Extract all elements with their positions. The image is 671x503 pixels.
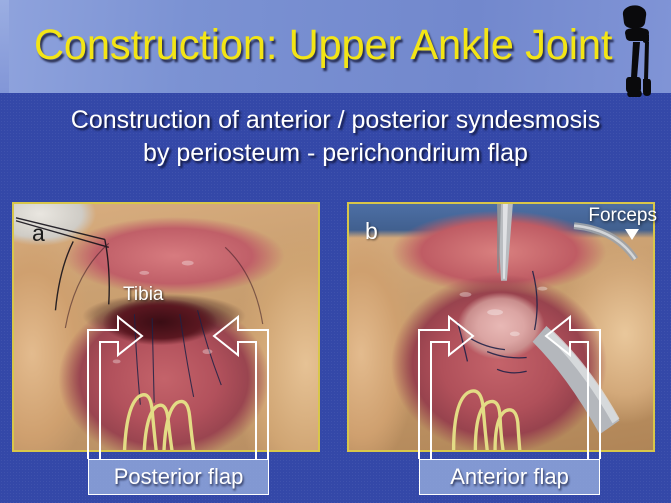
panel-letter-b: b <box>365 220 378 243</box>
surgical-photo-panel-a: a <box>12 202 320 452</box>
subtitle-line-2: by periosteum - perichondrium flap <box>0 137 671 170</box>
banner-left-edge <box>0 0 9 93</box>
caption-anterior-flap: Anterior flap <box>419 459 600 495</box>
caption-anterior-flap-label: Anterior flap <box>450 466 569 488</box>
panel-letter-a: a <box>32 222 45 245</box>
caption-posterior-flap-label: Posterior flap <box>114 466 244 488</box>
presentation-slide: Construction: Upper Ankle Joint <box>0 0 671 503</box>
forceps-label: Forceps <box>588 206 657 225</box>
subtitle-line-1: Construction of anterior / posterior syn… <box>71 106 600 134</box>
surgical-photo-panel-b: b <box>347 202 655 452</box>
photo-b-details <box>349 204 653 450</box>
leg-bones-icon <box>617 4 659 98</box>
photo-a-details <box>14 204 318 450</box>
caption-posterior-flap: Posterior flap <box>88 459 269 495</box>
tibia-label: Tibia <box>123 285 163 304</box>
chevron-down-icon <box>624 228 640 241</box>
slide-title: Construction: Upper Ankle Joint <box>34 17 612 73</box>
title-banner: Construction: Upper Ankle Joint <box>0 0 671 93</box>
slide-subtitle: Construction of anterior / posterior syn… <box>0 104 671 170</box>
